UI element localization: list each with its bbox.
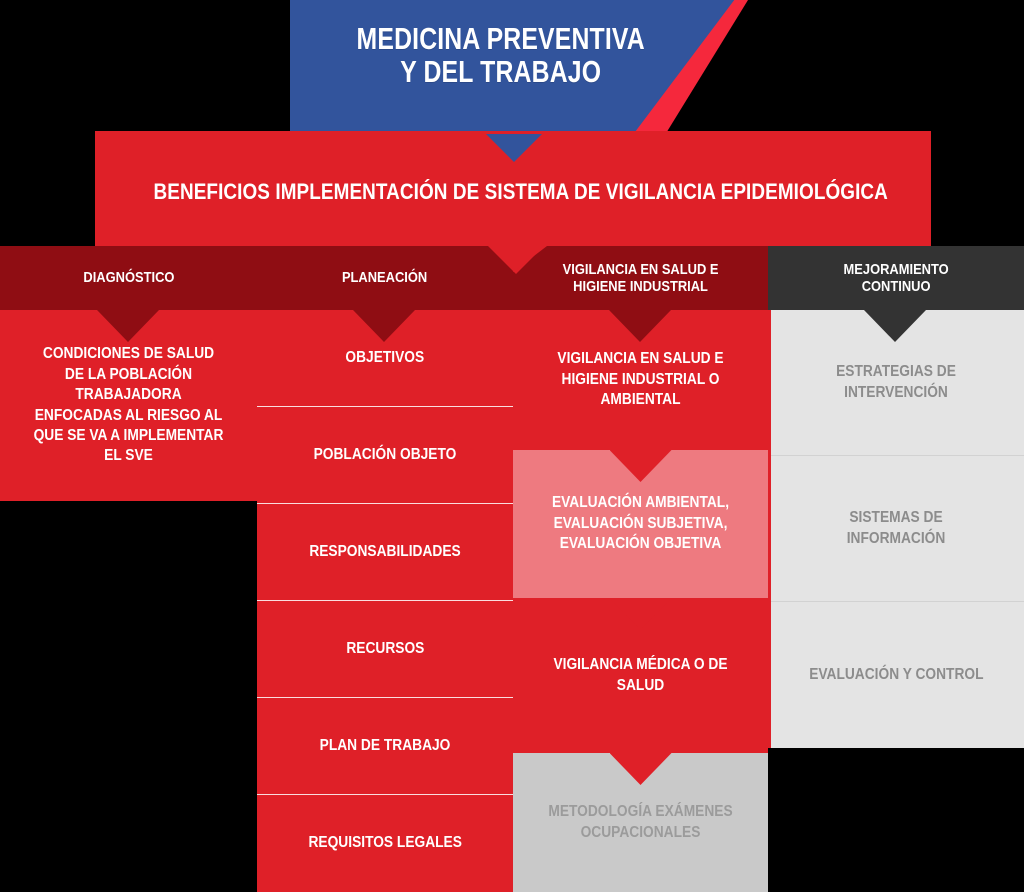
list-item-label: EVALUACIÓN AMBIENTAL, EVALUACIÓN SUBJETI… xyxy=(545,493,737,554)
column-header-mejoramiento[interactable]: MEJORAMIENTO CONTINUO xyxy=(768,246,1024,310)
list-item[interactable]: SISTEMAS DE INFORMACIÓN xyxy=(768,456,1024,602)
list-item-label: ESTRATEGIAS DE INTERVENCIÓN xyxy=(800,362,993,403)
list-item-label: VIGILANCIA MÉDICA O DE SALUD xyxy=(545,655,737,696)
column-mejoramiento: ESTRATEGIAS DE INTERVENCIÓN SISTEMAS DE … xyxy=(768,310,1024,748)
list-item[interactable]: PLAN DE TRABAJO xyxy=(257,698,513,795)
subtitle-text: BENEFICIOS IMPLEMENTACIÓN DE SISTEMA DE … xyxy=(154,179,873,205)
infographic-canvas: MEDICINA PREVENTIVA Y DEL TRABAJO BENEFI… xyxy=(0,0,1024,892)
list-item-label: METODOLOGÍA EXÁMENES OCUPACIONALES xyxy=(545,802,737,843)
column-header-label: PLANEACIÓN xyxy=(342,269,427,286)
list-item-label: OBJETIVOS xyxy=(346,348,425,368)
list-item-label: SISTEMAS DE INFORMACIÓN xyxy=(800,508,993,549)
column-header-label: MEJORAMIENTO CONTINUO xyxy=(843,261,948,296)
list-item[interactable]: REQUISITOS LEGALES xyxy=(257,795,513,892)
list-item-label: VIGILANCIA EN SALUD E HIGIENE INDUSTRIAL… xyxy=(545,349,737,410)
column-4-left-rule xyxy=(768,310,771,748)
list-item-label: POBLACIÓN OBJETO xyxy=(314,445,457,465)
list-item-label: REQUISITOS LEGALES xyxy=(308,833,461,853)
column-header-planeacion[interactable]: PLANEACIÓN xyxy=(257,246,513,310)
column-header-diagnostico[interactable]: DIAGNÓSTICO xyxy=(0,246,257,310)
title-banner: MEDICINA PREVENTIVA Y DEL TRABAJO xyxy=(290,0,748,134)
column-planeacion: OBJETIVOS POBLACIÓN OBJETO RESPONSABILID… xyxy=(257,310,513,892)
column-header-vigilancia[interactable]: VIGILANCIA EN SALUD E HIGIENE INDUSTRIAL xyxy=(513,246,768,310)
list-item[interactable]: POBLACIÓN OBJETO xyxy=(257,407,513,504)
list-item-label: CONDICIONES DE SALUD DE LA POBLACIÓN TRA… xyxy=(32,344,226,467)
list-item-label: EVALUACIÓN Y CONTROL xyxy=(809,665,983,685)
list-item[interactable]: EVALUACIÓN Y CONTROL xyxy=(768,602,1024,748)
list-item-label: RECURSOS xyxy=(346,639,424,659)
list-item-label: PLAN DE TRABAJO xyxy=(320,736,451,756)
column-header-label: DIAGNÓSTICO xyxy=(83,269,174,286)
list-item[interactable]: RECURSOS xyxy=(257,601,513,698)
list-item-label: RESPONSABILIDADES xyxy=(309,542,460,562)
column-vigilancia: VIGILANCIA EN SALUD E HIGIENE INDUSTRIAL… xyxy=(513,310,768,892)
page-title: MEDICINA PREVENTIVA Y DEL TRABAJO xyxy=(332,22,669,89)
column-header-label: VIGILANCIA EN SALUD E HIGIENE INDUSTRIAL xyxy=(563,261,719,296)
list-item[interactable]: RESPONSABILIDADES xyxy=(257,504,513,601)
